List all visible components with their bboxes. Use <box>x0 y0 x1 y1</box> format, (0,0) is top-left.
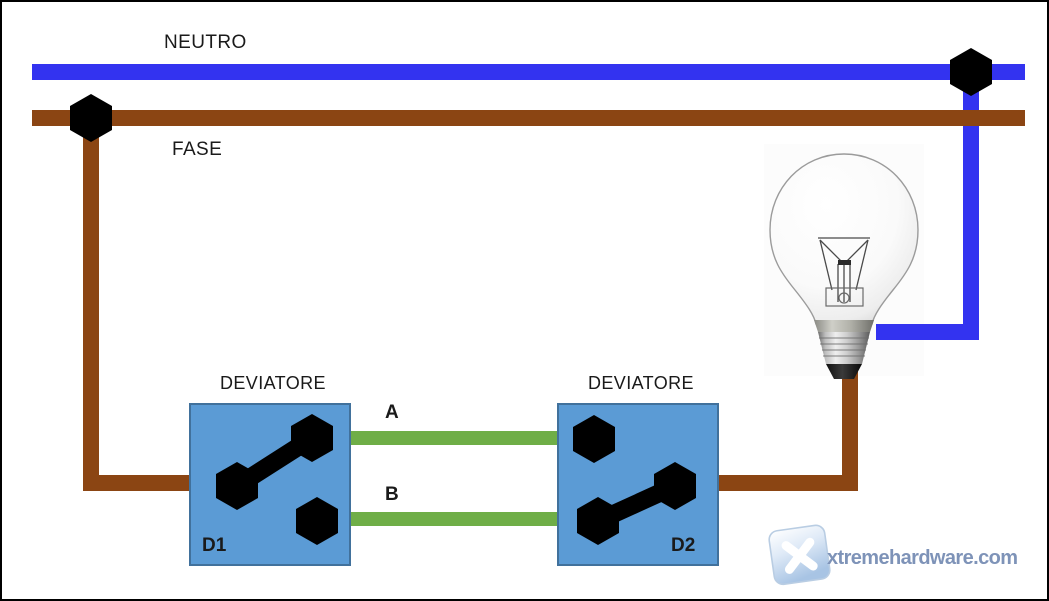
bulb-filament-clamp <box>838 260 851 265</box>
traveler-wire-a <box>338 431 572 445</box>
label-switch-id-d2: D2 <box>671 535 695 557</box>
label-deviatore-left: DEVIATORE <box>220 373 326 394</box>
watermark-text: xtremehardware.com <box>827 547 1017 570</box>
watermark-logo-spacer <box>762 530 820 586</box>
bulb-collar <box>814 320 874 332</box>
phase-tap-node[interactable] <box>70 94 112 142</box>
label-deviatore-right: DEVIATORE <box>588 373 694 394</box>
label-wire-a: A <box>385 402 399 424</box>
watermark: xtremehardware.com <box>762 530 1017 586</box>
label-neutro: NEUTRO <box>164 32 247 54</box>
label-wire-b: B <box>385 484 399 506</box>
neutral-tap-node[interactable] <box>950 48 992 96</box>
wiring-diagram: NEUTRO FASE DEVIATORE DEVIATORE D1 D2 A … <box>0 0 1049 601</box>
bulb-screw-base <box>818 332 870 364</box>
traveler-wire-b <box>338 512 572 526</box>
diagram-canvas <box>2 2 1049 601</box>
label-fase: FASE <box>172 139 222 161</box>
label-switch-id-d1: D1 <box>202 535 226 557</box>
